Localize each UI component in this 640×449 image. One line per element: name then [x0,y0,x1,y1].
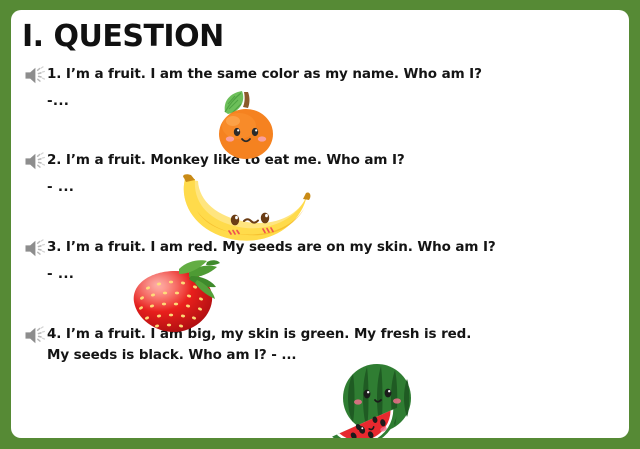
speaker-icon[interactable] [24,66,46,85]
question-1-headline: 1. I’m a fruit. I am the same color as m… [24,65,482,85]
orange-fruit-image [207,88,285,160]
speaker-icon[interactable] [24,326,46,345]
question-3-answer[interactable]: - ... [47,266,496,282]
speaker-icon[interactable] [24,152,46,171]
question-4-headline: 4. I’m a fruit. I am big, my skin is gre… [24,325,471,345]
question-item-4: 4. I’m a fruit. I am big, my skin is gre… [24,325,471,365]
strawberry-fruit-image [117,258,235,335]
watermelon-fruit-image [319,360,417,438]
slide-canvas: I. QUESTION [0,0,640,449]
worksheet-card: I. QUESTION [11,10,629,438]
question-4-text-line1: 4. I’m a fruit. I am big, my skin is gre… [47,325,471,344]
page-title: I. QUESTION [22,19,224,54]
question-1-text: 1. I’m a fruit. I am the same color as m… [47,65,482,84]
banana-fruit-image [173,173,315,246]
speaker-icon[interactable] [24,239,46,258]
